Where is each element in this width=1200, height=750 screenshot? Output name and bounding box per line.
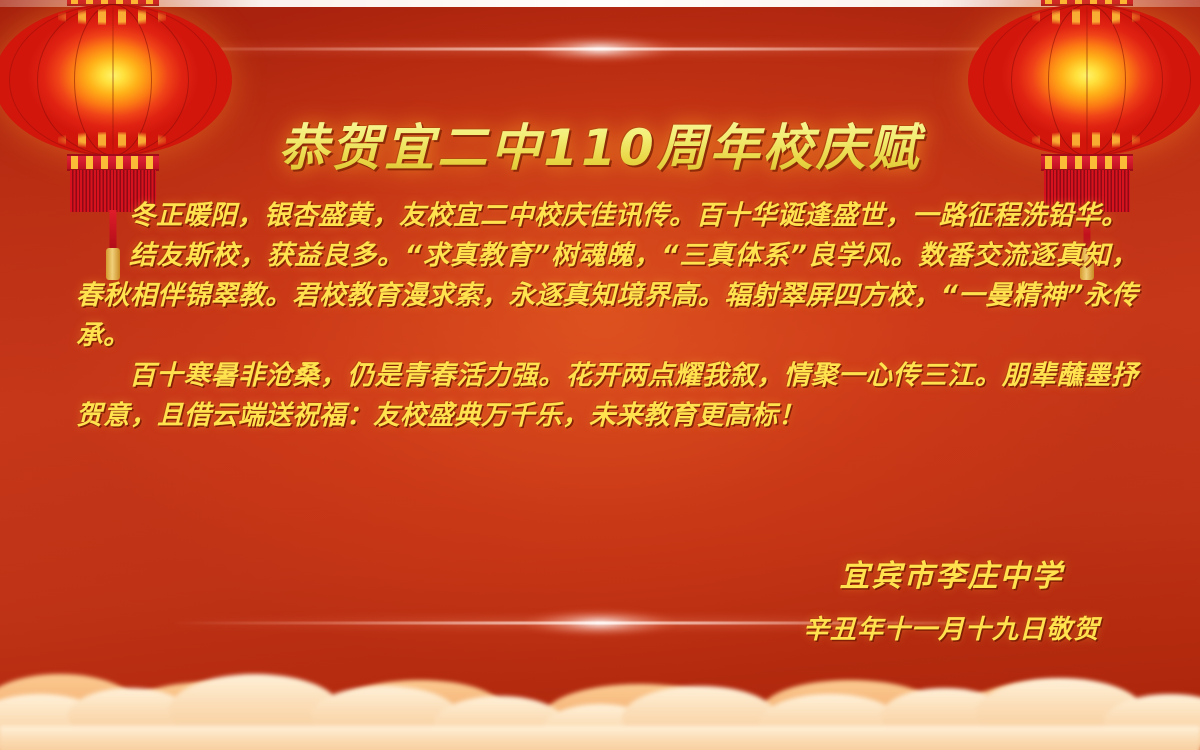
signature-date: 辛丑年十一月十九日敬贺	[803, 610, 1100, 650]
paragraph-2: 结友斯校，获益良多。“求真教育”树魂魄，“三真体系”良学风。数番交流逐真知，春秋…	[76, 236, 1138, 356]
signature-organization: 宜宾市李庄中学	[803, 556, 1100, 598]
celebration-poster: 恭贺宜二中110周年校庆赋 冬正暖阳，银杏盛黄，友校宜二中校庆佳讯传。百十华诞逢…	[0, 0, 1200, 750]
poster-content: 恭贺宜二中110周年校庆赋 冬正暖阳，银杏盛黄，友校宜二中校庆佳讯传。百十华诞逢…	[0, 0, 1200, 750]
signature-block: 宜宾市李庄中学 辛丑年十一月十九日敬贺	[803, 556, 1100, 650]
paragraph-3: 百十寒暑非沧桑，仍是青春活力强。花开两点耀我叙，情聚一心传三江。朋辈蘸墨抒贺意，…	[76, 356, 1138, 436]
page-title: 恭贺宜二中110周年校庆赋	[0, 108, 1200, 180]
poster-body-text: 冬正暖阳，银杏盛黄，友校宜二中校庆佳讯传。百十华诞逢盛世，一路征程洗铅华。 结友…	[76, 196, 1138, 436]
paragraph-1: 冬正暖阳，银杏盛黄，友校宜二中校庆佳讯传。百十华诞逢盛世，一路征程洗铅华。	[76, 196, 1138, 236]
